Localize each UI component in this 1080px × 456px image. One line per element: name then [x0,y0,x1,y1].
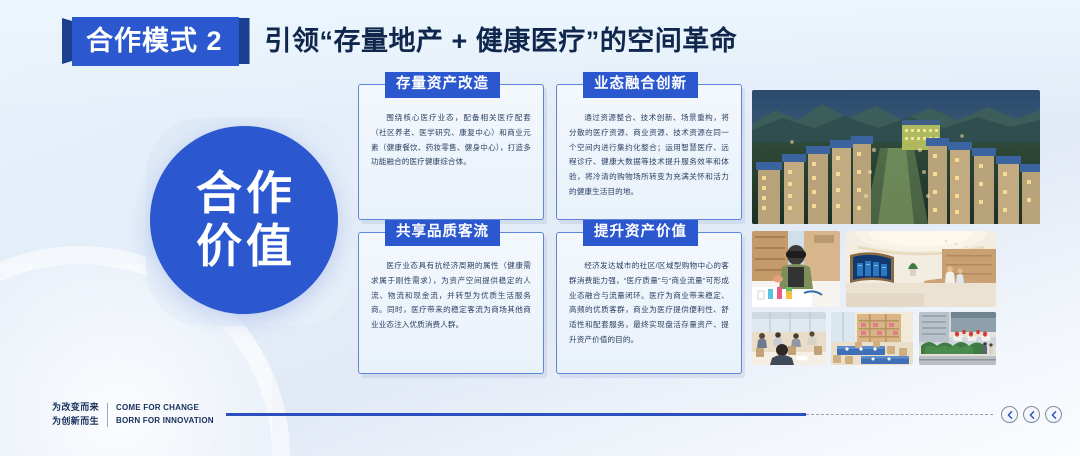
value-card-title: 共享品质客流 [385,220,500,246]
photo-gallery [750,90,1040,382]
value-card: 共享品质客流 医疗业态具有抗经济周期的属性（健康需求属于刚性需求），为资产空间提… [358,232,544,374]
value-card-body: 医疗业态具有抗经济周期的属性（健康需求属于刚性需求），为资产空间提供稳定的人流、… [371,259,531,333]
chevron-left-icon [1028,411,1036,419]
value-card-body: 经济发达城市的社区/区域型购物中心的客群消费能力强，“医疗质量”与“商业流量”可… [569,259,729,348]
section-badge: 合作模式 2 [72,16,239,66]
slogan-divider [107,403,108,427]
gallery-photo-aerial-campus-dusk [752,90,1040,224]
cooperation-value-emblem: 合作 价值 [150,126,338,314]
nav-prev-button-3[interactable] [1045,406,1062,423]
value-card-title: 提升资产价值 [583,220,698,246]
value-card-body: 通过资源整合、技术创新、场景重构，将分散的医疗资源、商业资源、技术资源在同一个空… [569,111,729,200]
slogan-cn-line-1: 为改变而来 [52,401,99,415]
page-title: 引领“存量地产 + 健康医疗”的空间革命 [265,16,738,66]
gallery-photo-vr-rehabilitation-room [752,231,840,307]
emblem-line-2: 价值 [192,220,296,273]
slide-navigation [1001,406,1062,423]
page-header: 合作模式 2 引领“存量地产 + 健康医疗”的空间革命 [72,16,737,66]
value-card-body: 围绕核心医疗业态，配备相关医疗配套（社区养老、医学研究、康复中心）和商业元素（健… [371,111,531,170]
value-card-title: 存量资产改造 [385,72,500,98]
nav-prev-button-1[interactable] [1001,406,1018,423]
chevron-left-icon [1006,411,1014,419]
nav-prev-button-2[interactable] [1023,406,1040,423]
slogan-en-line-2: BORN FOR INNOVATION [116,415,214,427]
value-card: 提升资产价值 经济发达城市的社区/区域型购物中心的客群消费能力强，“医疗质量”与… [556,232,742,374]
value-card: 存量资产改造 围绕核心医疗业态，配备相关医疗配套（社区养老、医学研究、康复中心）… [358,84,544,220]
emblem-line-1: 合作 [192,167,296,220]
page-footer: 为改变而来 为创新而生 COME FOR CHANGE BORN FOR INN… [52,401,1062,428]
gallery-photo-dining-hall-window [752,312,826,365]
gallery-photo-lobby-curved-display [846,231,996,307]
value-card-grid: 存量资产改造 围绕核心医疗业态，配备相关医疗配套（社区养老、医学研究、康复中心）… [358,84,742,374]
slogan-english: COME FOR CHANGE BORN FOR INNOVATION [116,402,214,427]
value-card-title: 业态融合创新 [583,72,698,98]
footer-rule-dashed [806,414,993,415]
chevron-left-icon [1050,411,1058,419]
slogan-en-line-1: COME FOR CHANGE [116,402,214,414]
footer-rule-solid [226,413,806,416]
slogan-cn-line-2: 为创新而生 [52,415,99,429]
section-badge-label: 合作模式 2 [72,17,239,66]
value-card: 业态融合创新 通过资源整合、技术创新、场景重构，将分散的医疗资源、商业资源、技术… [556,84,742,220]
slogan-chinese: 为改变而来 为创新而生 [52,401,99,428]
gallery-photo-street-level-retail [919,312,996,365]
gallery-photo-communal-dining-tables [831,312,913,365]
